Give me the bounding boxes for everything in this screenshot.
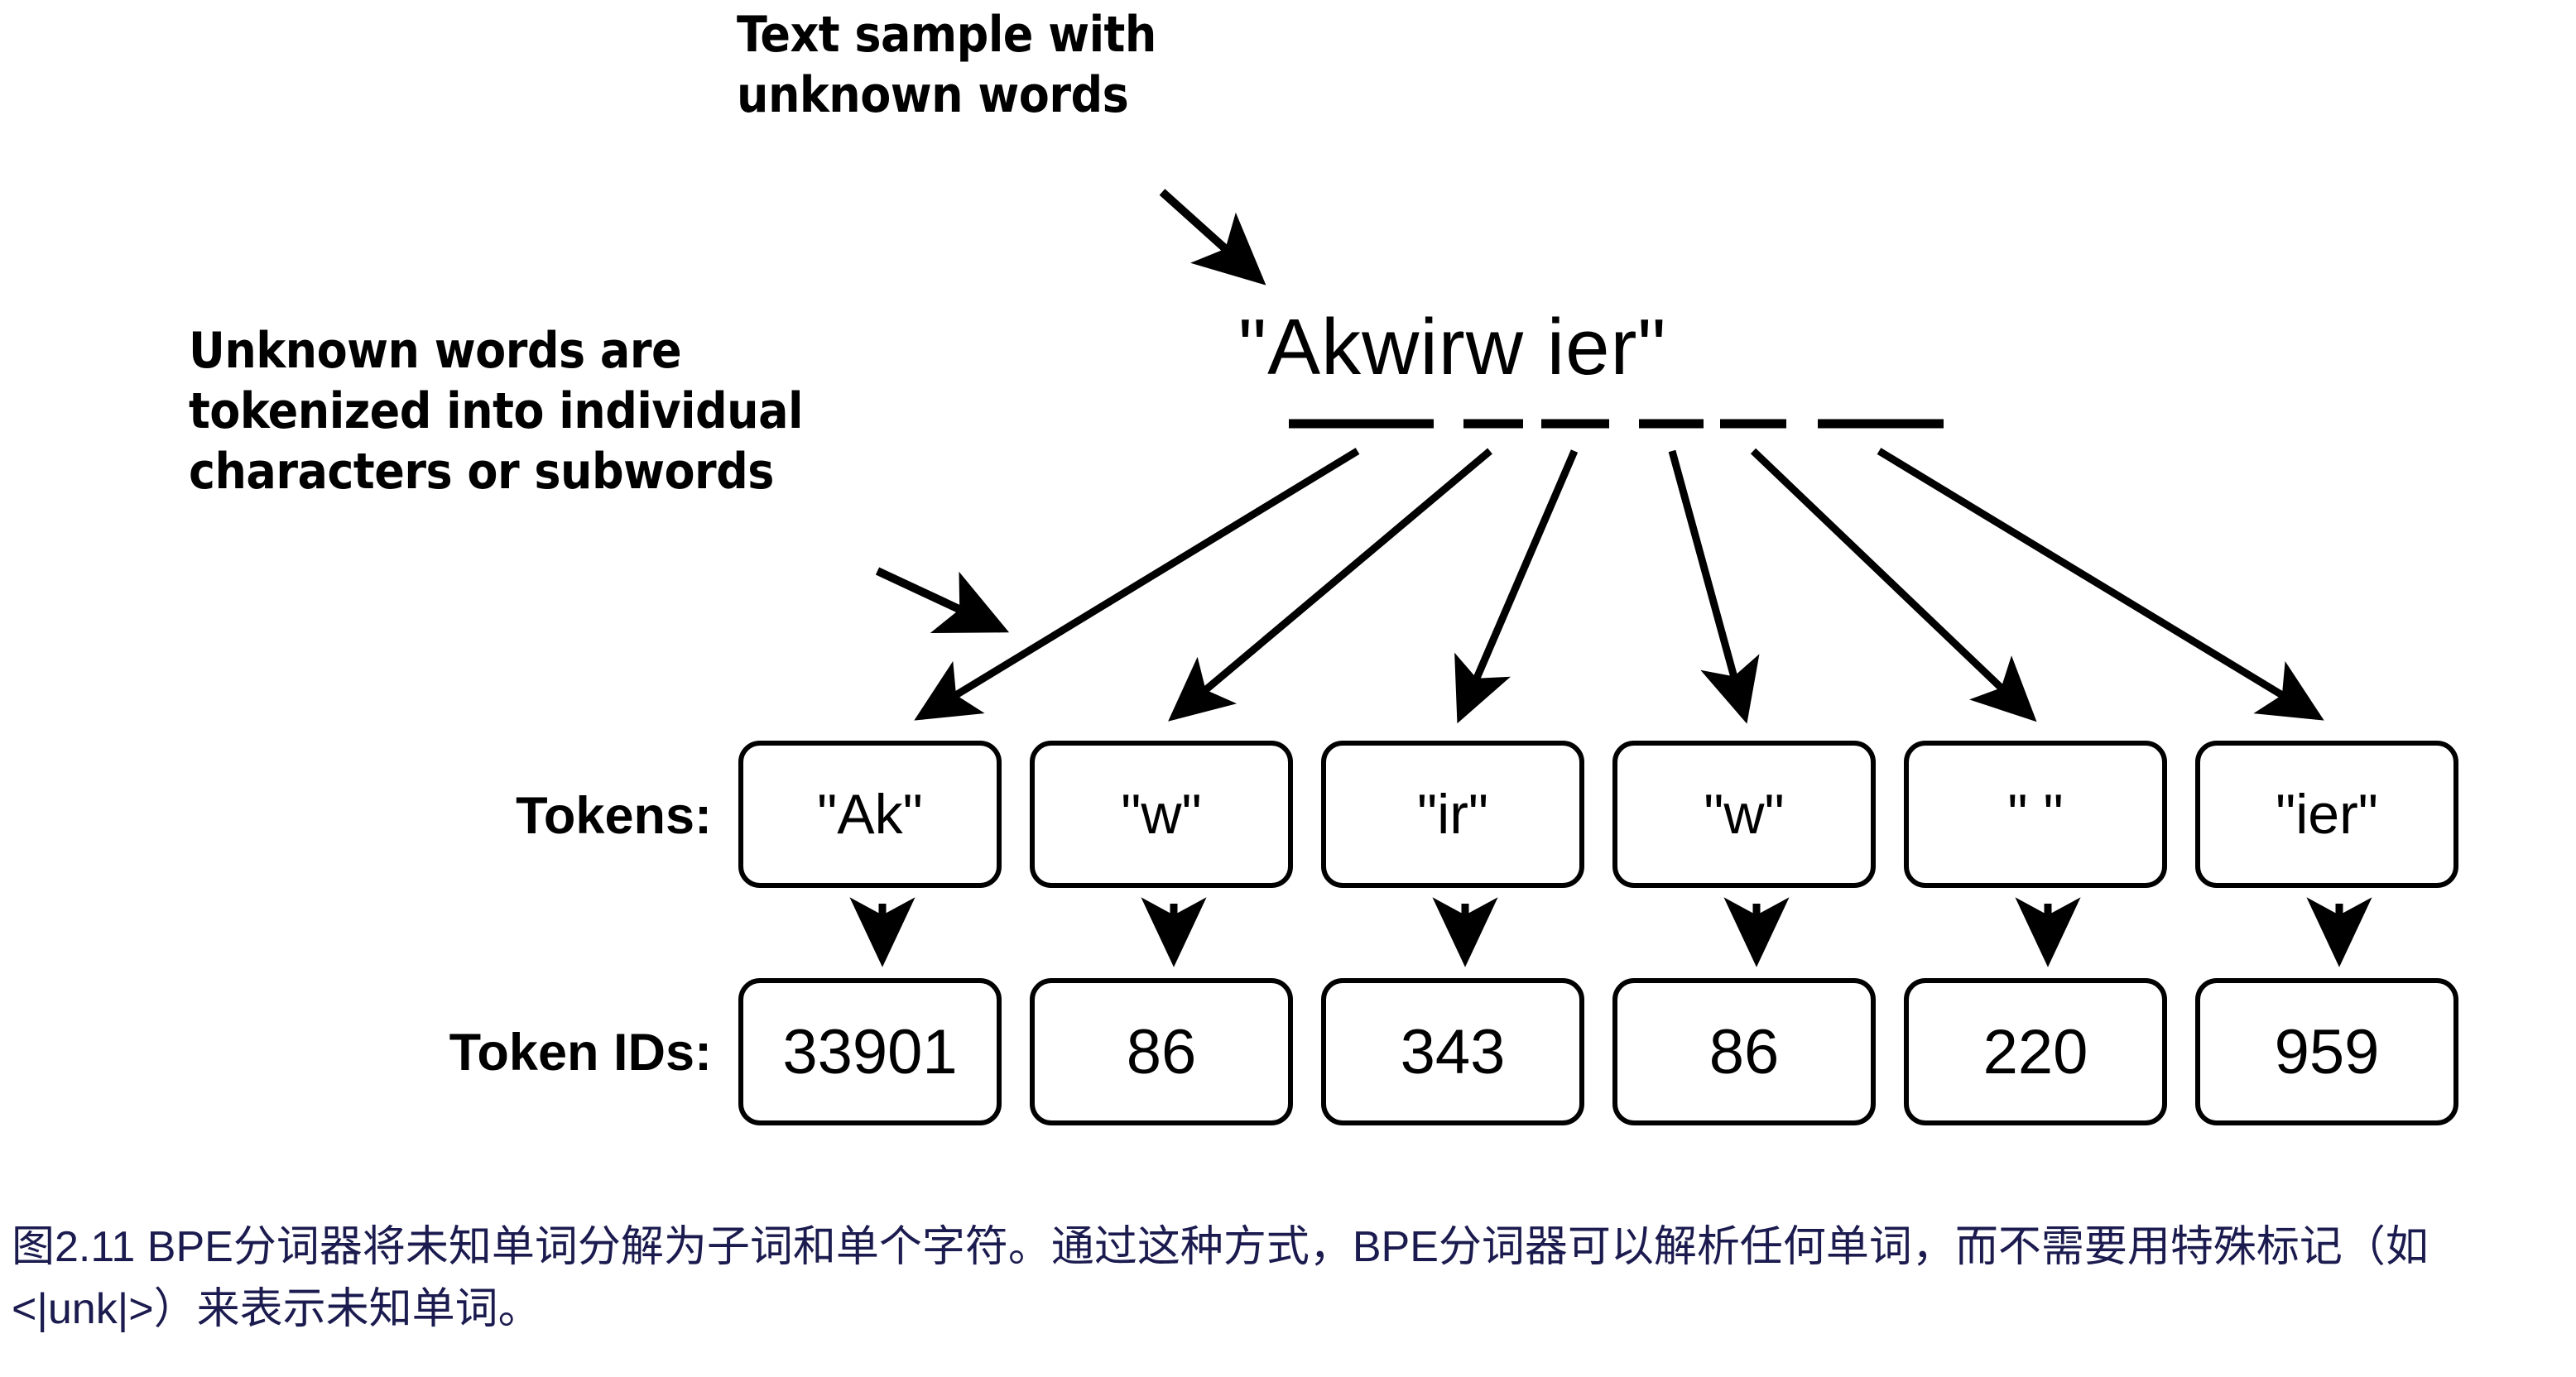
spacer (1002, 978, 1030, 1125)
row-label-tokens: Tokens: (248, 786, 712, 846)
token-id-value: 86 (1709, 1016, 1780, 1088)
fanout-arrow-3 (1460, 451, 1574, 717)
token-id-box: 86 (1030, 978, 1293, 1125)
annotation-unknown-words: Unknown words are tokenized into individ… (189, 321, 934, 503)
token-box: "w" (1030, 741, 1293, 888)
fanout-arrow-6 (1879, 451, 2318, 717)
token-id-value: 33901 (782, 1016, 957, 1088)
token-box: "ir" (1321, 741, 1584, 888)
row-label-token-ids: Token IDs: (248, 1023, 712, 1082)
token-id-value: 343 (1401, 1016, 1506, 1088)
bpe-tokenizer-diagram: Text sample with unknown words Unknown w… (0, 0, 2576, 1183)
token-box: "Ak" (738, 741, 1002, 888)
token-id-value: 959 (2275, 1016, 2380, 1088)
fanout-arrow-5 (1753, 451, 2031, 717)
token-label: "ier" (2276, 782, 2378, 847)
arrow-left-annotation-pointer (877, 571, 1002, 629)
token-box: " " (1904, 741, 2167, 888)
token-id-box: 959 (2195, 978, 2458, 1125)
spacer (1876, 741, 1904, 888)
fanout-arrows (920, 451, 2318, 717)
token-label: "ir" (1417, 782, 1488, 847)
token-box: "ier" (2195, 741, 2458, 888)
token-id-box: 343 (1321, 978, 1584, 1125)
fanout-arrow-2 (1174, 451, 1490, 717)
token-to-id-arrows (882, 904, 2339, 958)
token-id-box: 86 (1612, 978, 1876, 1125)
fanout-arrow-1 (920, 451, 1358, 717)
spacer (1293, 741, 1321, 888)
spacer (1293, 978, 1321, 1125)
token-box: "w" (1612, 741, 1876, 888)
sample-text: "Akwirw ier" (1238, 308, 1667, 387)
token-id-box: 33901 (738, 978, 1002, 1125)
spacer (1584, 741, 1612, 888)
arrow-text-sample-pointer (1162, 192, 1260, 280)
fanout-arrow-4 (1672, 451, 1745, 717)
annotation-text-sample: Text sample with unknown words (737, 5, 1333, 126)
token-id-value: 86 (1127, 1016, 1197, 1088)
figure-caption: 图2.11 BPE分词器将未知单词分解为子词和单个字符。通过这种方式，BPE分词… (12, 1216, 2561, 1341)
token-id-box: 220 (1904, 978, 2167, 1125)
token-id-value: 220 (1983, 1016, 2088, 1088)
spacer (1002, 741, 1030, 888)
spacer (2167, 741, 2195, 888)
token-label: " " (2007, 782, 2063, 847)
spacer (1876, 978, 1904, 1125)
token-ids-row: 33901 86 343 86 220 959 (738, 978, 2458, 1125)
spacer (2167, 978, 2195, 1125)
spacer (1584, 978, 1612, 1125)
token-label: "w" (1704, 782, 1784, 847)
token-label: "Ak" (817, 782, 923, 847)
tokens-row: "Ak" "w" "ir" "w" " " "ier" (738, 741, 2458, 888)
token-label: "w" (1121, 782, 1201, 847)
